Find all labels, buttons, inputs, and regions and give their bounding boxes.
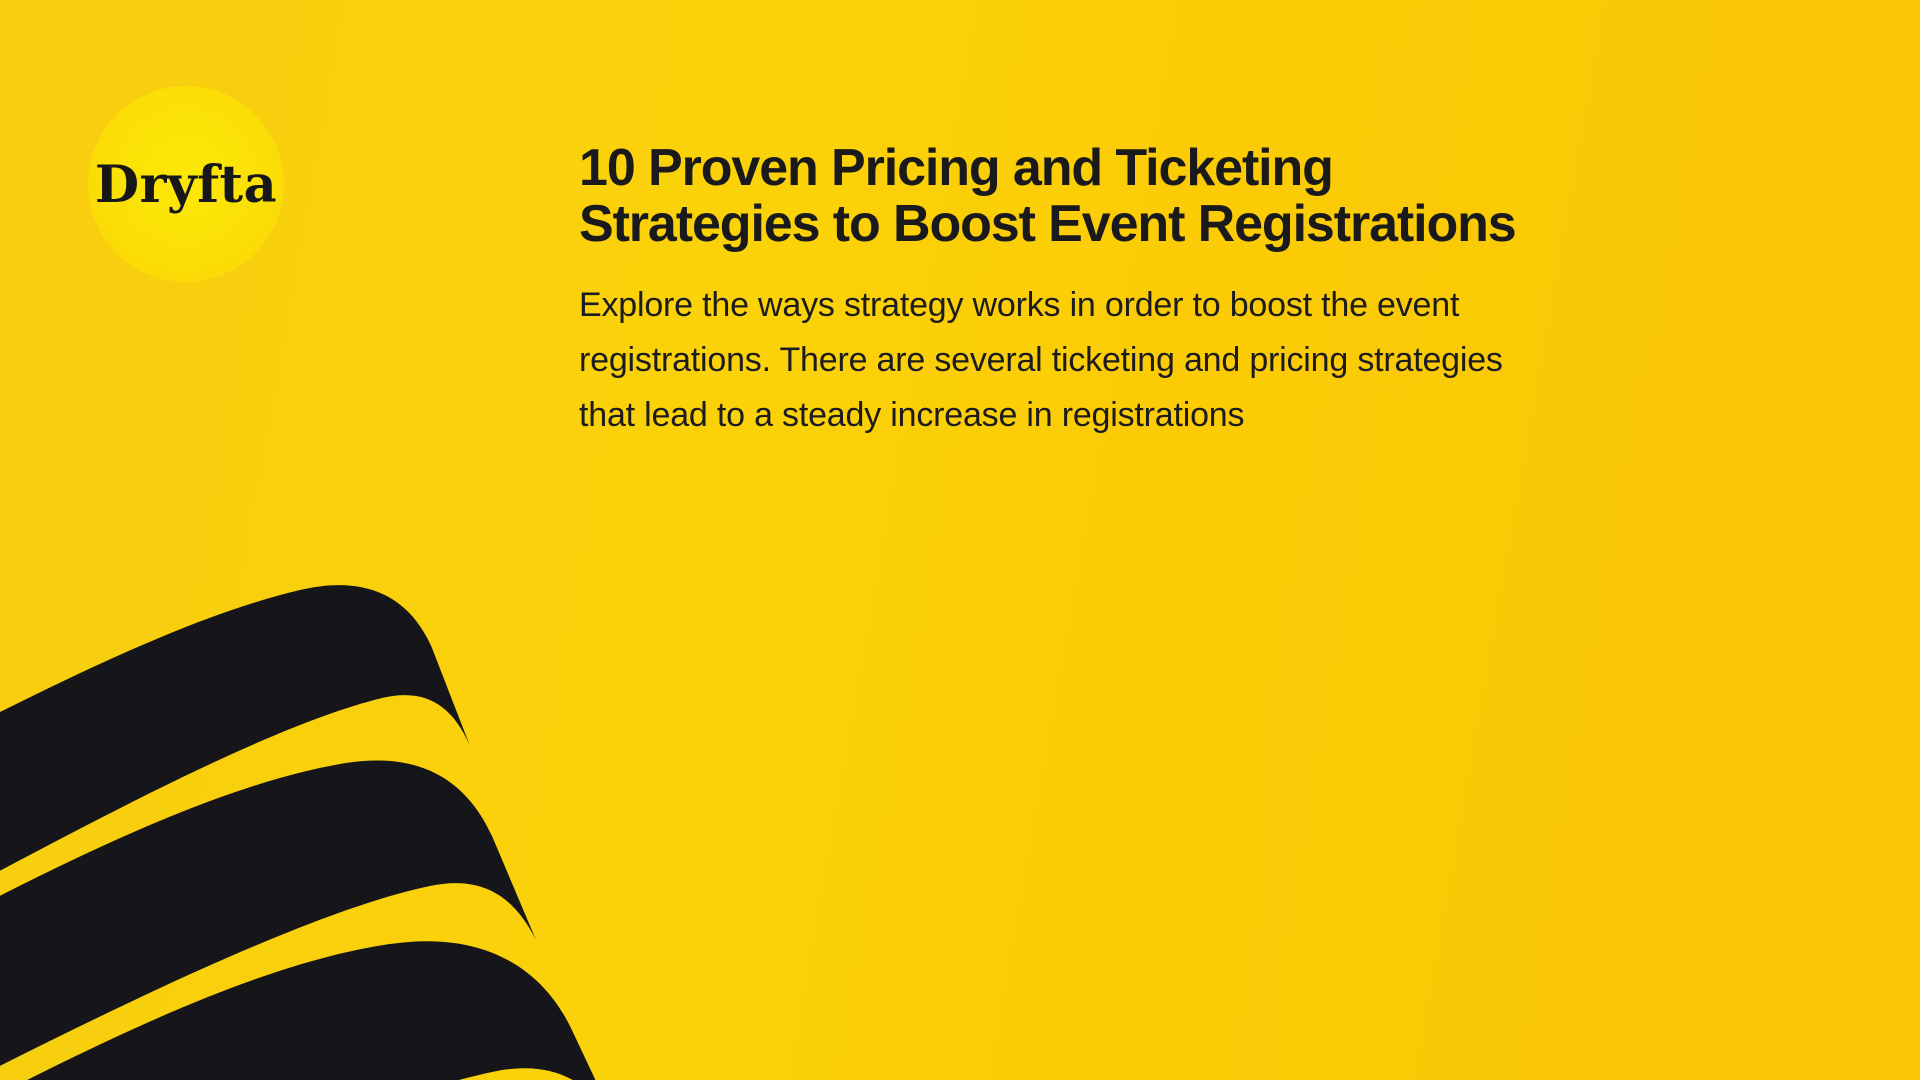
article-card: Dryfta 10 Proven Pricing and Ticketing S… xyxy=(0,0,1920,1080)
brand-logo[interactable]: Dryfta xyxy=(88,86,284,282)
brand-wordmark: Dryfta xyxy=(95,160,277,211)
wave-stripes-svg xyxy=(0,520,700,1080)
headline-line-2: Strategies to Boost Event Registrations xyxy=(579,196,1519,252)
wave-stripe-1 xyxy=(0,585,470,892)
article-summary: Explore the ways strategy works in order… xyxy=(579,278,1504,443)
diagonal-wave-stripes-decoration xyxy=(0,520,700,1080)
article-headline: 10 Proven Pricing and Ticketing Strategi… xyxy=(579,140,1519,252)
wave-stripe-2 xyxy=(0,761,536,1080)
article-text-block: 10 Proven Pricing and Ticketing Strategi… xyxy=(579,140,1519,443)
wave-stripe-3 xyxy=(0,941,620,1080)
headline-line-1: 10 Proven Pricing and Ticketing xyxy=(579,140,1519,196)
